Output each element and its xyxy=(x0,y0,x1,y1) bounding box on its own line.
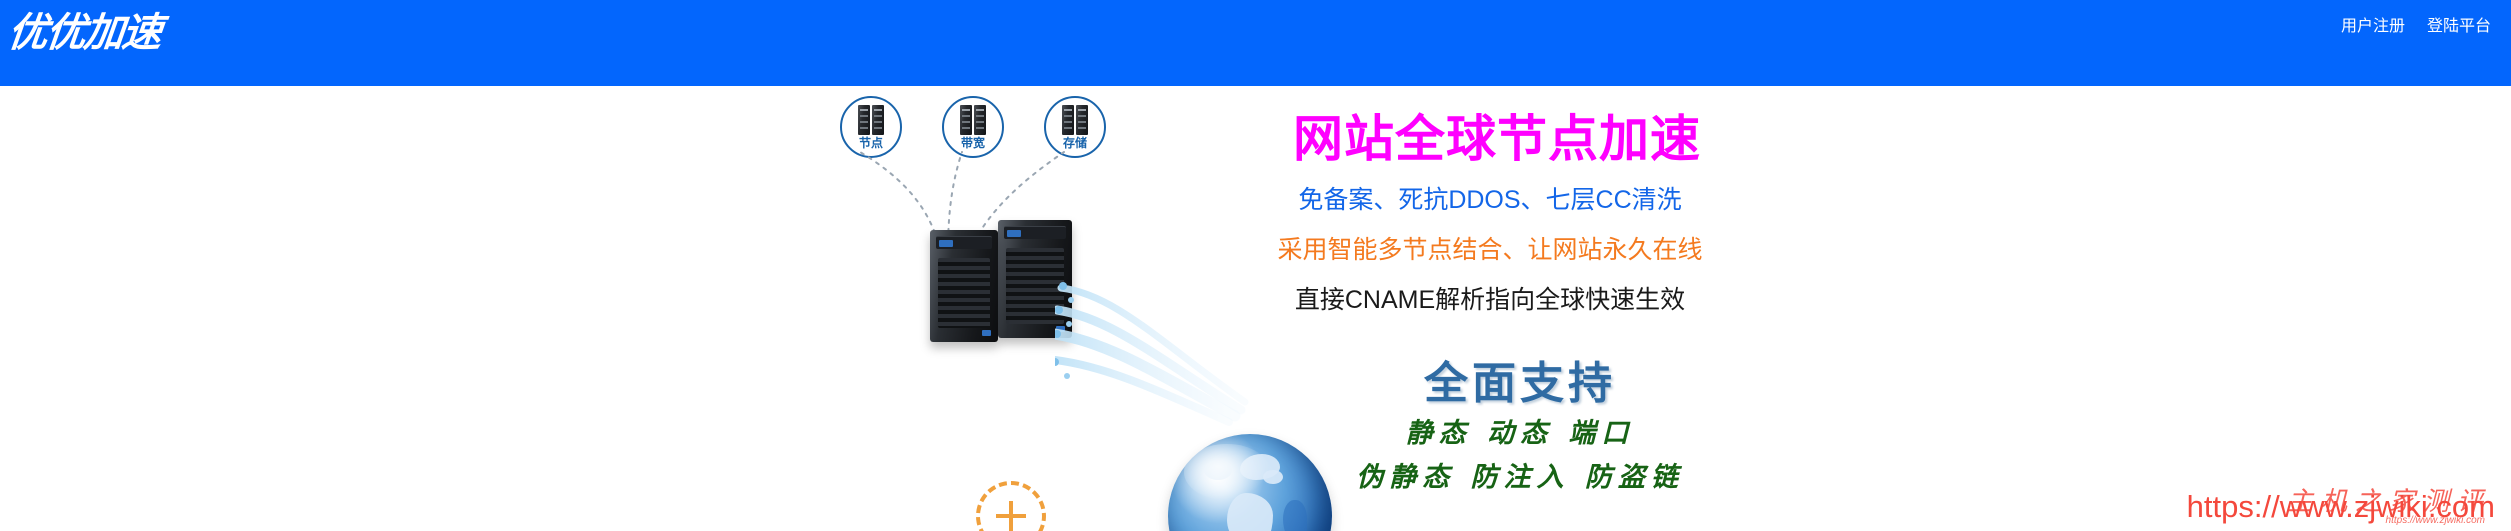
hero-subline-2: 采用智能多节点结合、让网站永久在线 xyxy=(1240,234,1740,266)
support-title: 全面支持 xyxy=(1290,356,1750,412)
watermark-url-small: https://www.zjwiki.com xyxy=(2386,515,2485,527)
site-logo[interactable]: 优优加速 xyxy=(5,6,163,60)
server-drive-bays xyxy=(938,258,990,328)
data-stream-icon xyxy=(1055,276,1255,426)
server-top-panel xyxy=(1004,226,1066,239)
hero-subline-1: 免备案、死抗DDOS、七层CC清洗 xyxy=(1240,184,1740,216)
server-led xyxy=(982,330,991,336)
server-rack-icon xyxy=(1062,105,1088,135)
support-section: 全面支持 静态 动态 端口 伪静态 防注入 防盗链 xyxy=(1290,356,1750,500)
continent-shape xyxy=(1283,500,1307,531)
expand-feature: 快速提供扩展 xyxy=(935,481,1105,531)
page-root: 优优加速 用户注册 登陆平台 节点 带宽 存储 xyxy=(0,0,2511,531)
plus-icon xyxy=(996,501,1026,531)
tower-server-front xyxy=(930,230,998,342)
nav-link-login[interactable]: 登陆平台 xyxy=(2427,17,2491,37)
hero-headline: 网站全球节点加速 xyxy=(1272,110,1722,168)
hero-section: 节点 带宽 存储 xyxy=(0,86,2511,531)
nav-link-register[interactable]: 用户注册 xyxy=(2341,17,2405,37)
support-row-1: 静态 动态 端口 xyxy=(1290,412,1750,456)
hero-subline-3: 直接CNAME解析指向全球快速生效 xyxy=(1240,284,1740,316)
server-rack-icon xyxy=(858,105,884,135)
header-nav: 用户注册 登陆平台 xyxy=(2341,17,2491,37)
server-top-panel xyxy=(936,236,992,249)
server-rack-icon xyxy=(960,105,986,135)
globe-highlight xyxy=(1184,444,1269,500)
site-header: 优优加速 用户注册 登陆平台 xyxy=(0,0,2511,86)
support-row-2: 伪静态 防注入 防盗链 xyxy=(1290,456,1750,500)
